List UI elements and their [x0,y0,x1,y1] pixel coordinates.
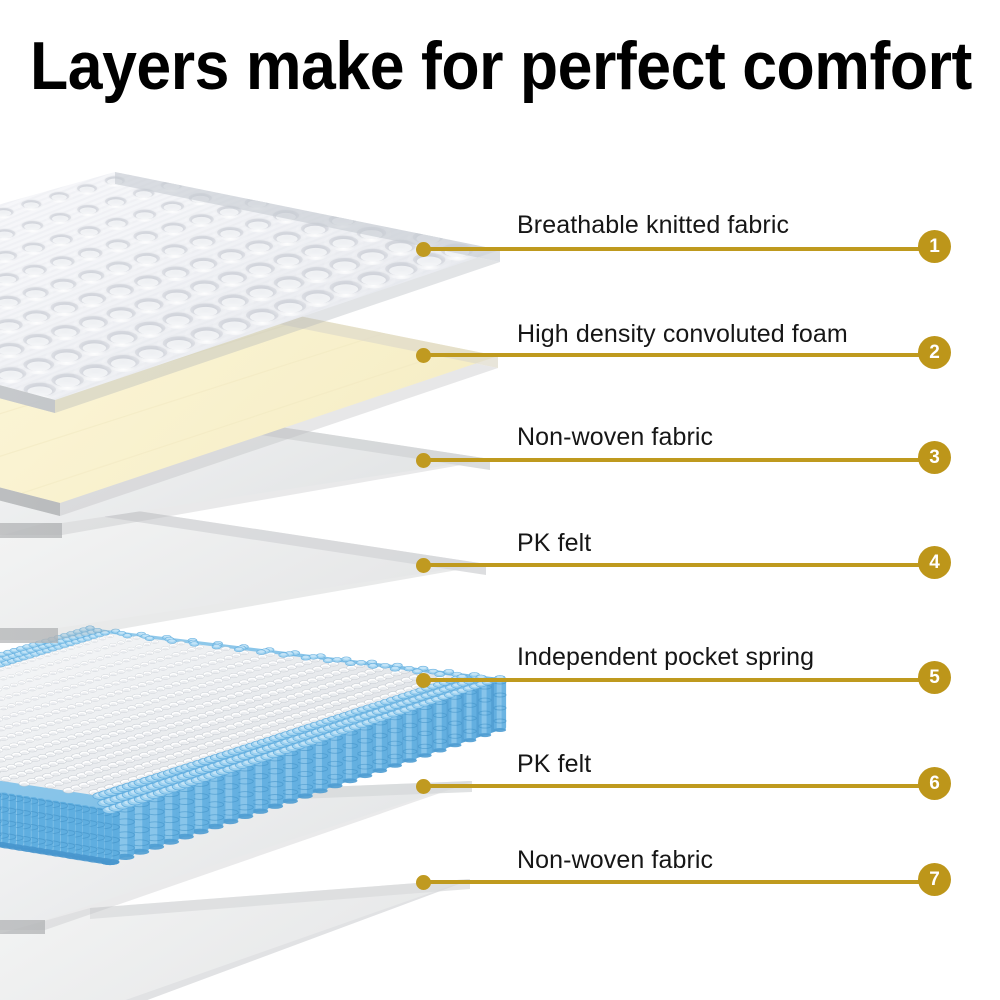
callout-label-non-woven-fabric-bottom: Non-woven fabric [517,848,713,873]
callout-leader-line-6 [429,784,934,788]
callout-label-pk-felt-top: PK felt [517,531,591,556]
callout-label-breathable-knitted-fabric: Breathable knitted fabric [517,213,789,238]
callout-anchor-dot-6 [416,779,431,794]
callout-label-high-density-convoluted-foam: High density convoluted foam [517,322,848,347]
callout-leader-line-1 [429,247,934,251]
callout-badge-6[interactable]: 6 [918,767,951,800]
exploded-mattress-illustration [0,0,1000,1000]
callout-anchor-dot-5 [416,673,431,688]
callout-leader-line-3 [429,458,934,462]
callout-badge-1[interactable]: 1 [918,230,951,263]
callout-anchor-dot-3 [416,453,431,468]
callout-anchor-dot-2 [416,348,431,363]
callout-leader-line-2 [429,353,934,357]
callout-badge-2[interactable]: 2 [918,336,951,369]
mattress-layer-infographic: Layers make for perfect comfort [0,0,1000,1000]
callout-label-independent-pocket-spring: Independent pocket spring [517,645,814,670]
callout-anchor-dot-7 [416,875,431,890]
callout-badge-3[interactable]: 3 [918,441,951,474]
callout-label-non-woven-fabric-top: Non-woven fabric [517,425,713,450]
callout-anchor-dot-1 [416,242,431,257]
callout-label-pk-felt-bottom: PK felt [517,752,591,777]
callout-badge-4[interactable]: 4 [918,546,951,579]
callout-badge-5[interactable]: 5 [918,661,951,694]
callout-leader-line-4 [429,563,934,567]
callout-badge-7[interactable]: 7 [918,863,951,896]
callout-leader-line-5 [429,678,934,682]
callout-anchor-dot-4 [416,558,431,573]
callout-leader-line-7 [429,880,934,884]
